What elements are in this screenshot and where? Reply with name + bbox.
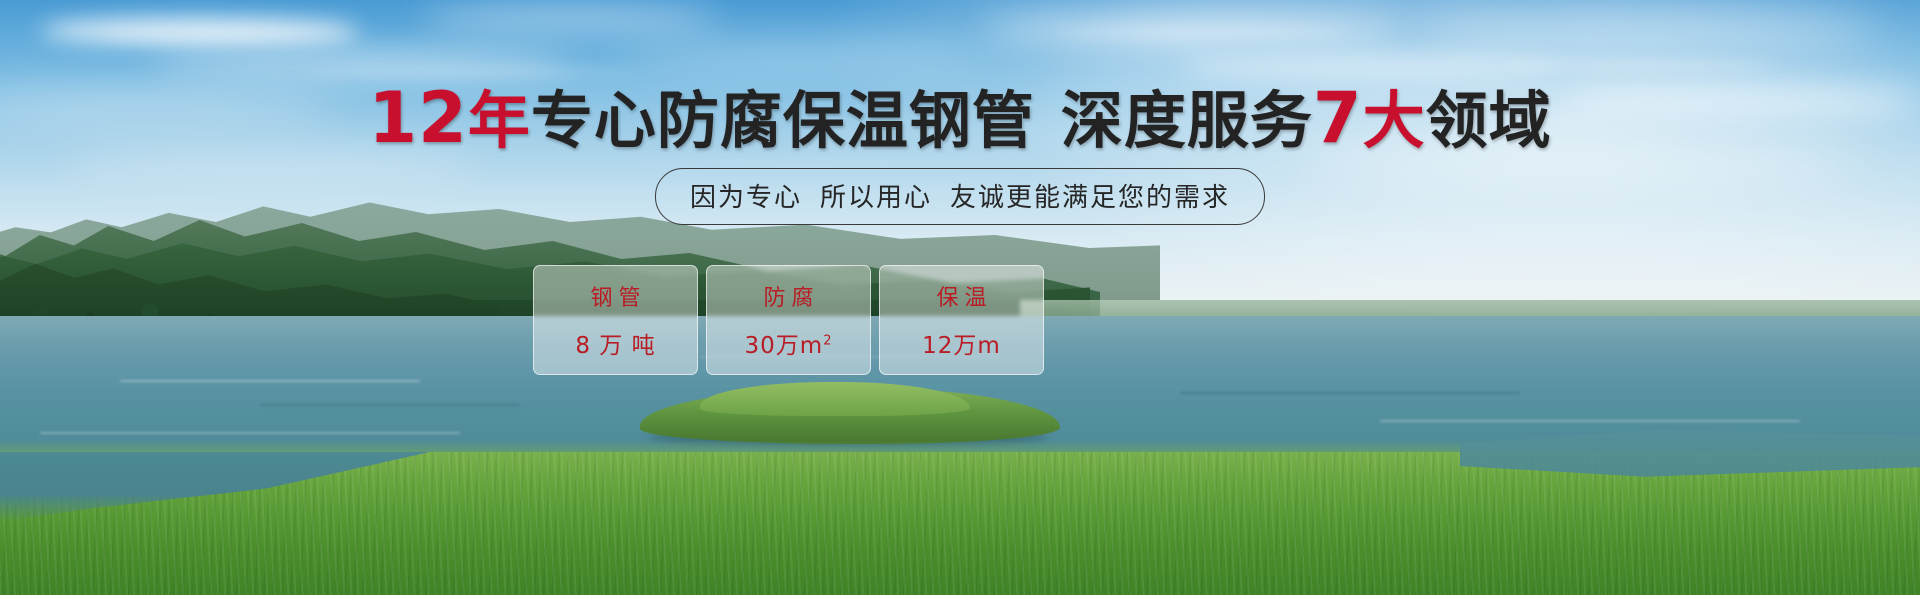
cloud-streak (1500, 62, 1780, 68)
cloud-streak (620, 160, 1040, 164)
water-ripple (260, 404, 520, 406)
stat-card-value-text: 30万m (745, 333, 824, 359)
headline-fields-text: 领域 (1426, 84, 1552, 157)
headline-main-text: 专心防腐保温钢管 (531, 84, 1035, 157)
water-ripple (120, 380, 420, 382)
headline: 12年专心防腐保温钢管深度服务7大领域 (0, 83, 1920, 153)
stat-card-value-text: 12万m (922, 333, 1001, 359)
water-ripple (1380, 420, 1800, 422)
headline-fields-unit: 大 (1363, 84, 1426, 157)
cloud-shape (620, 44, 980, 68)
cloud-streak (100, 34, 360, 39)
stat-card-value-text: 8 万 吨 (575, 333, 655, 359)
subtitle-wrapper: 因为专心所以用心友诚更能满足您的需求 (0, 168, 1920, 225)
stat-card-label: 保温 (930, 280, 992, 312)
subtitle-part-2: 所以用心 (820, 183, 932, 213)
cloud-shape (40, 18, 360, 44)
water-ripple (1180, 392, 1520, 394)
stat-card-value: 30万m2 (745, 326, 833, 360)
water-ripple (40, 432, 460, 434)
subtitle-pill: 因为专心所以用心友诚更能满足您的需求 (655, 168, 1265, 225)
headline-years-unit: 年 (468, 84, 531, 157)
cloud-shape (420, 8, 720, 28)
headline-fields-number: 7 (1313, 77, 1363, 159)
subtitle-part-3: 友诚更能满足您的需求 (950, 183, 1230, 213)
cloud-streak (1050, 30, 1350, 35)
stat-card-value: 12万m (922, 326, 1001, 360)
cloud-shape (1180, 56, 1560, 78)
stat-card-list: 钢管 8 万 吨 防腐 30万m2 保温 12万m (533, 265, 1044, 375)
cloud-streak (300, 70, 640, 74)
headline-years-number: 12 (368, 77, 467, 159)
stat-card-label: 钢管 (584, 280, 646, 312)
cloud-shape (980, 16, 1400, 42)
headline-service-text: 深度服务 (1061, 84, 1313, 157)
stat-card-value: 8 万 吨 (575, 326, 655, 360)
promo-banner: 12年专心防腐保温钢管深度服务7大领域 因为专心所以用心友诚更能满足您的需求 钢… (0, 0, 1920, 595)
stat-card-insulation[interactable]: 保温 12万m (879, 265, 1044, 375)
stat-card-label: 防腐 (757, 280, 819, 312)
subtitle-part-1: 因为专心 (690, 183, 802, 213)
stat-card-steel-pipe[interactable]: 钢管 8 万 吨 (533, 265, 698, 375)
stat-card-value-exponent: 2 (823, 333, 832, 348)
stat-card-anticorrosion[interactable]: 防腐 30万m2 (706, 265, 871, 375)
cloud-shape (1420, 10, 1880, 50)
